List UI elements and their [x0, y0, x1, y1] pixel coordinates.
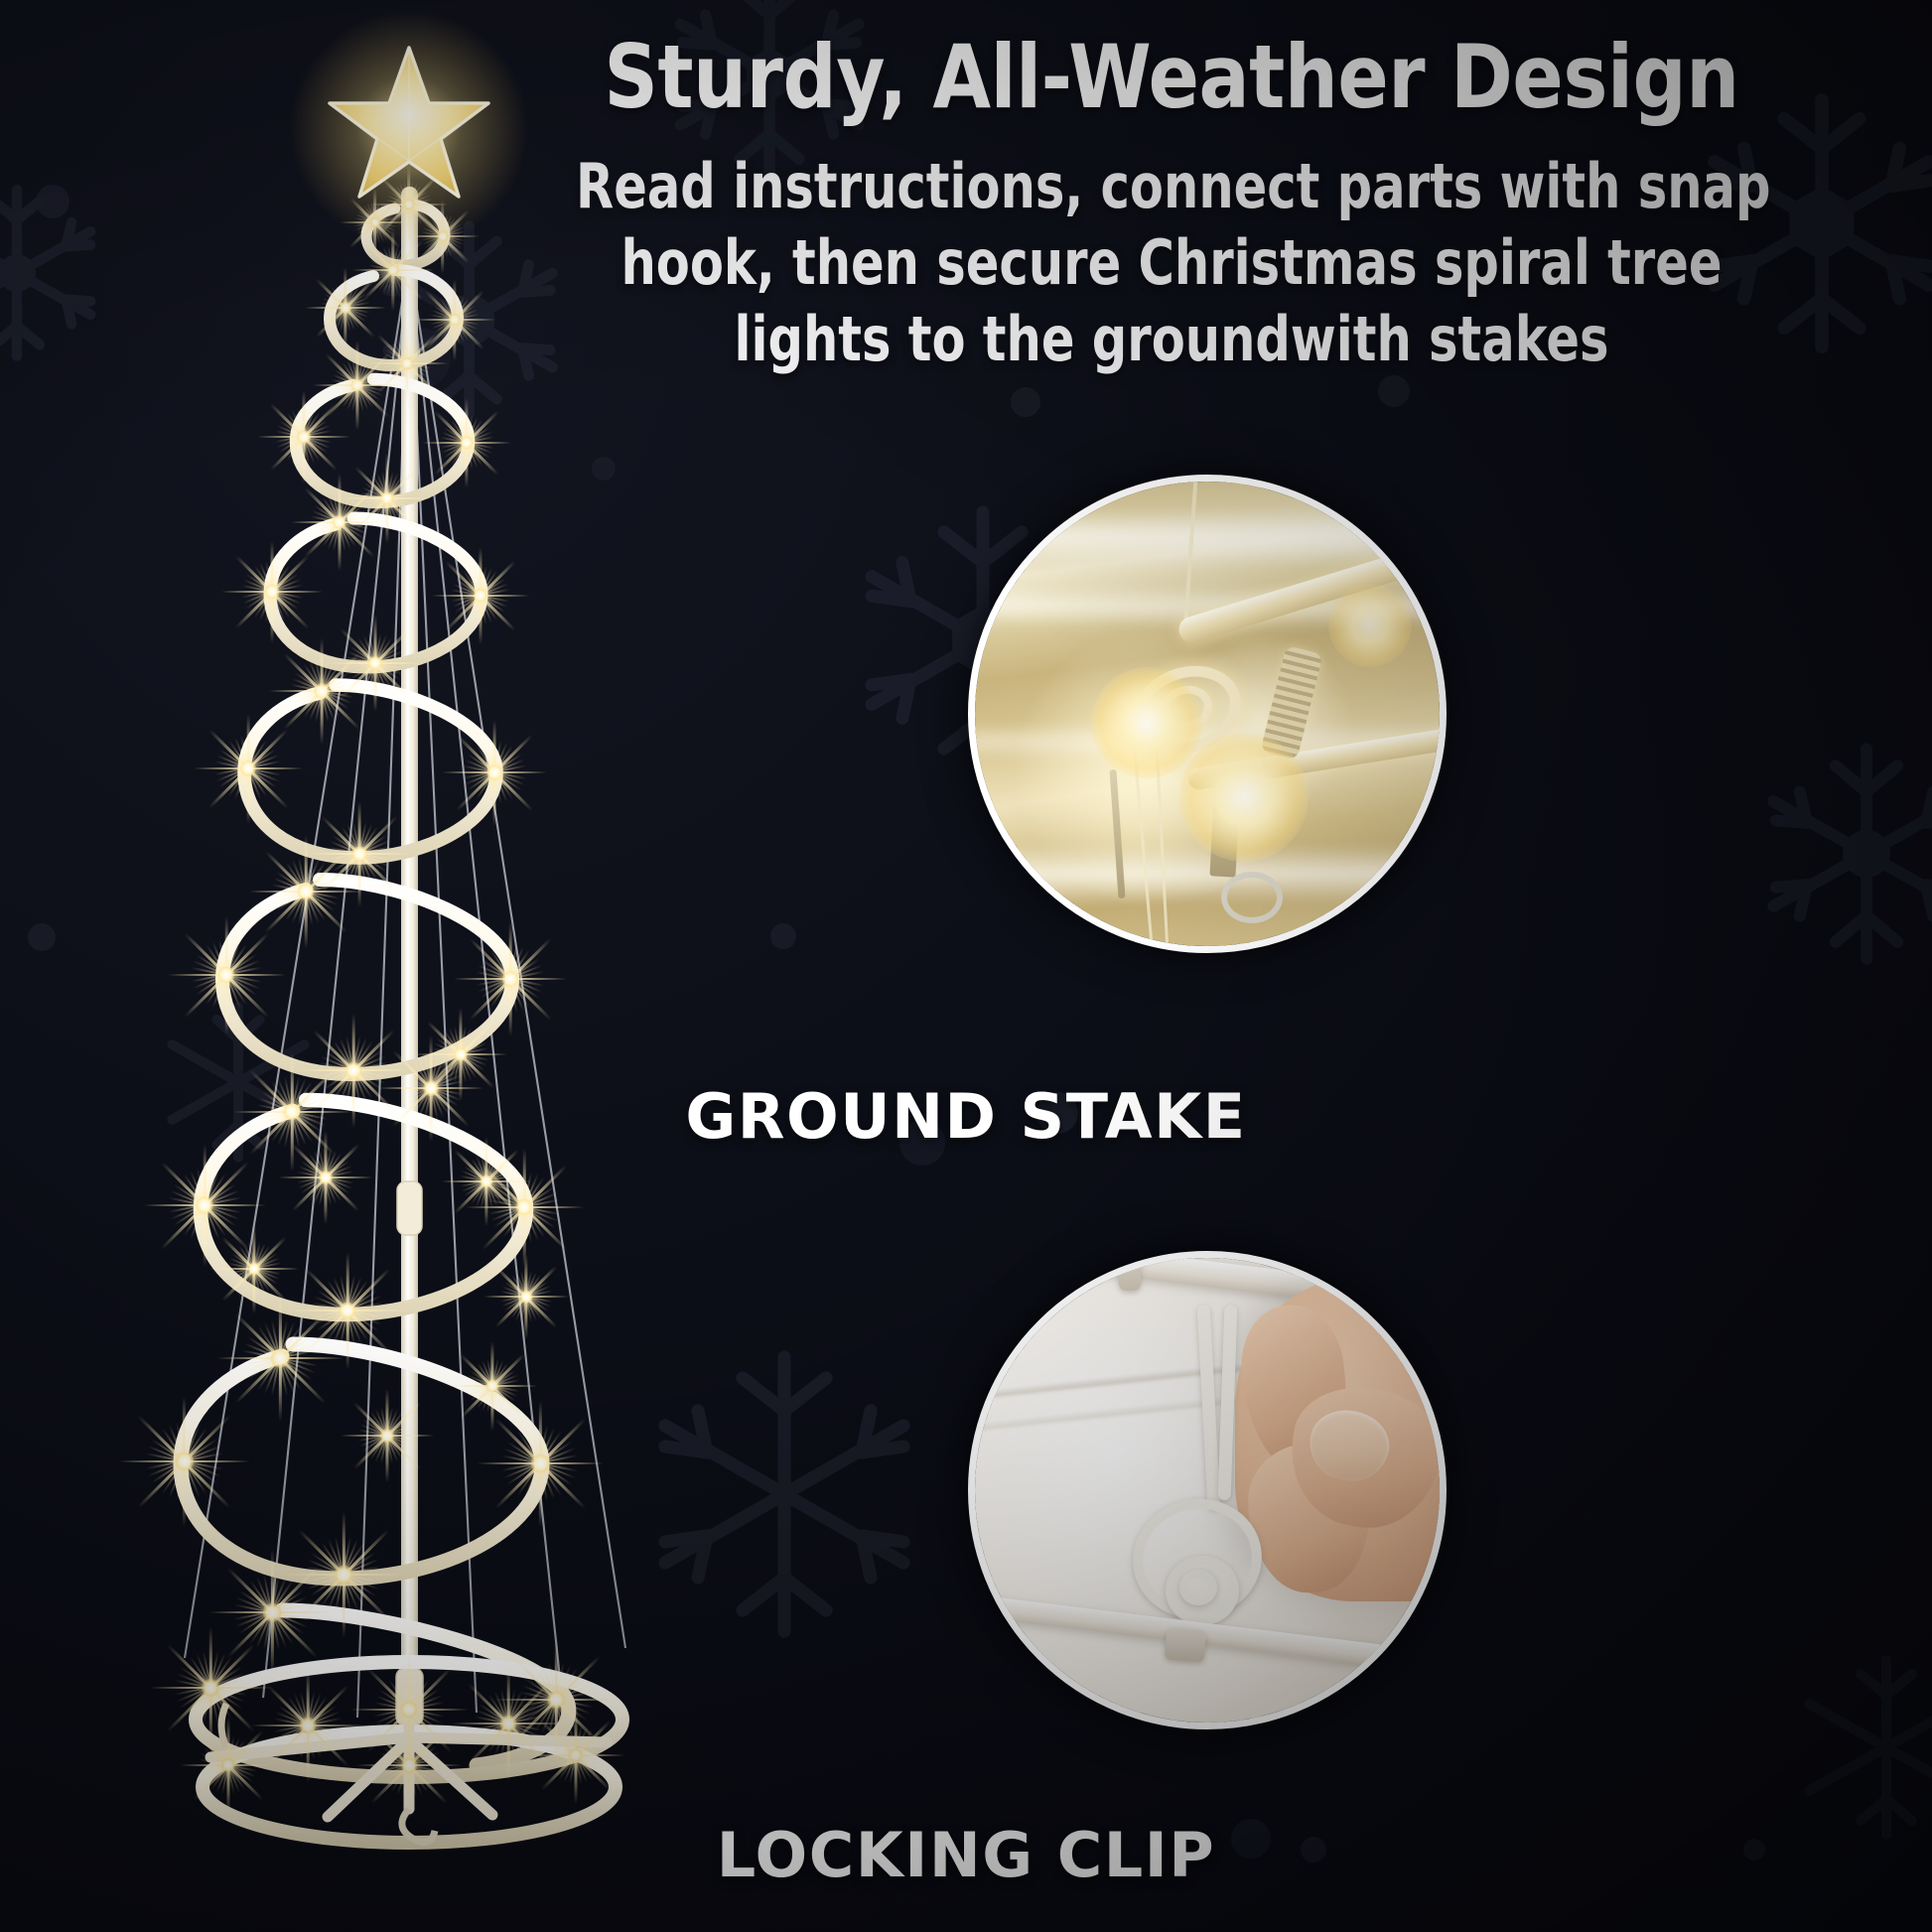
locking-clip-photo [975, 1258, 1440, 1723]
bokeh-dot [770, 923, 796, 949]
header-description-line-3: lights to the groundwith stakes [576, 302, 1767, 378]
locking-clip-nub [1165, 1628, 1206, 1663]
metal-hoop [1221, 872, 1283, 923]
header-description-line-1: Read instructions, connect parts with sn… [576, 149, 1767, 225]
snow-band [968, 844, 1447, 903]
header-description: Read instructions, connect parts with sn… [576, 149, 1767, 378]
bokeh-dot [28, 923, 56, 951]
locking-clip-nub [1119, 1251, 1141, 1291]
star-icon [290, 10, 528, 248]
snow-band [968, 509, 1447, 565]
bokeh-dot [1011, 387, 1040, 417]
ground-stake-photo [975, 482, 1440, 946]
header-description-line-2: hook, then secure Christmas spiral tree [576, 225, 1767, 302]
led-bulb [1091, 667, 1202, 778]
bokeh-dot [1378, 375, 1410, 407]
product-infographic: Sturdy, All-Weather Design Read instruct… [0, 0, 1932, 1932]
spiral-light-strand [181, 205, 569, 1765]
locking-clip-inset[interactable] [968, 1251, 1447, 1729]
spiral-tree-product [60, 10, 735, 1926]
snowflake-icon [1747, 735, 1932, 973]
led-bulb [1328, 584, 1412, 667]
locking-clip-spiral-inner [1179, 1570, 1217, 1605]
center-pole [401, 187, 418, 1750]
ground-stake-inset[interactable] [968, 475, 1447, 953]
led-bulb [1179, 733, 1309, 862]
pole-joint [397, 1181, 422, 1235]
snowflake-icon [1787, 1648, 1932, 1847]
